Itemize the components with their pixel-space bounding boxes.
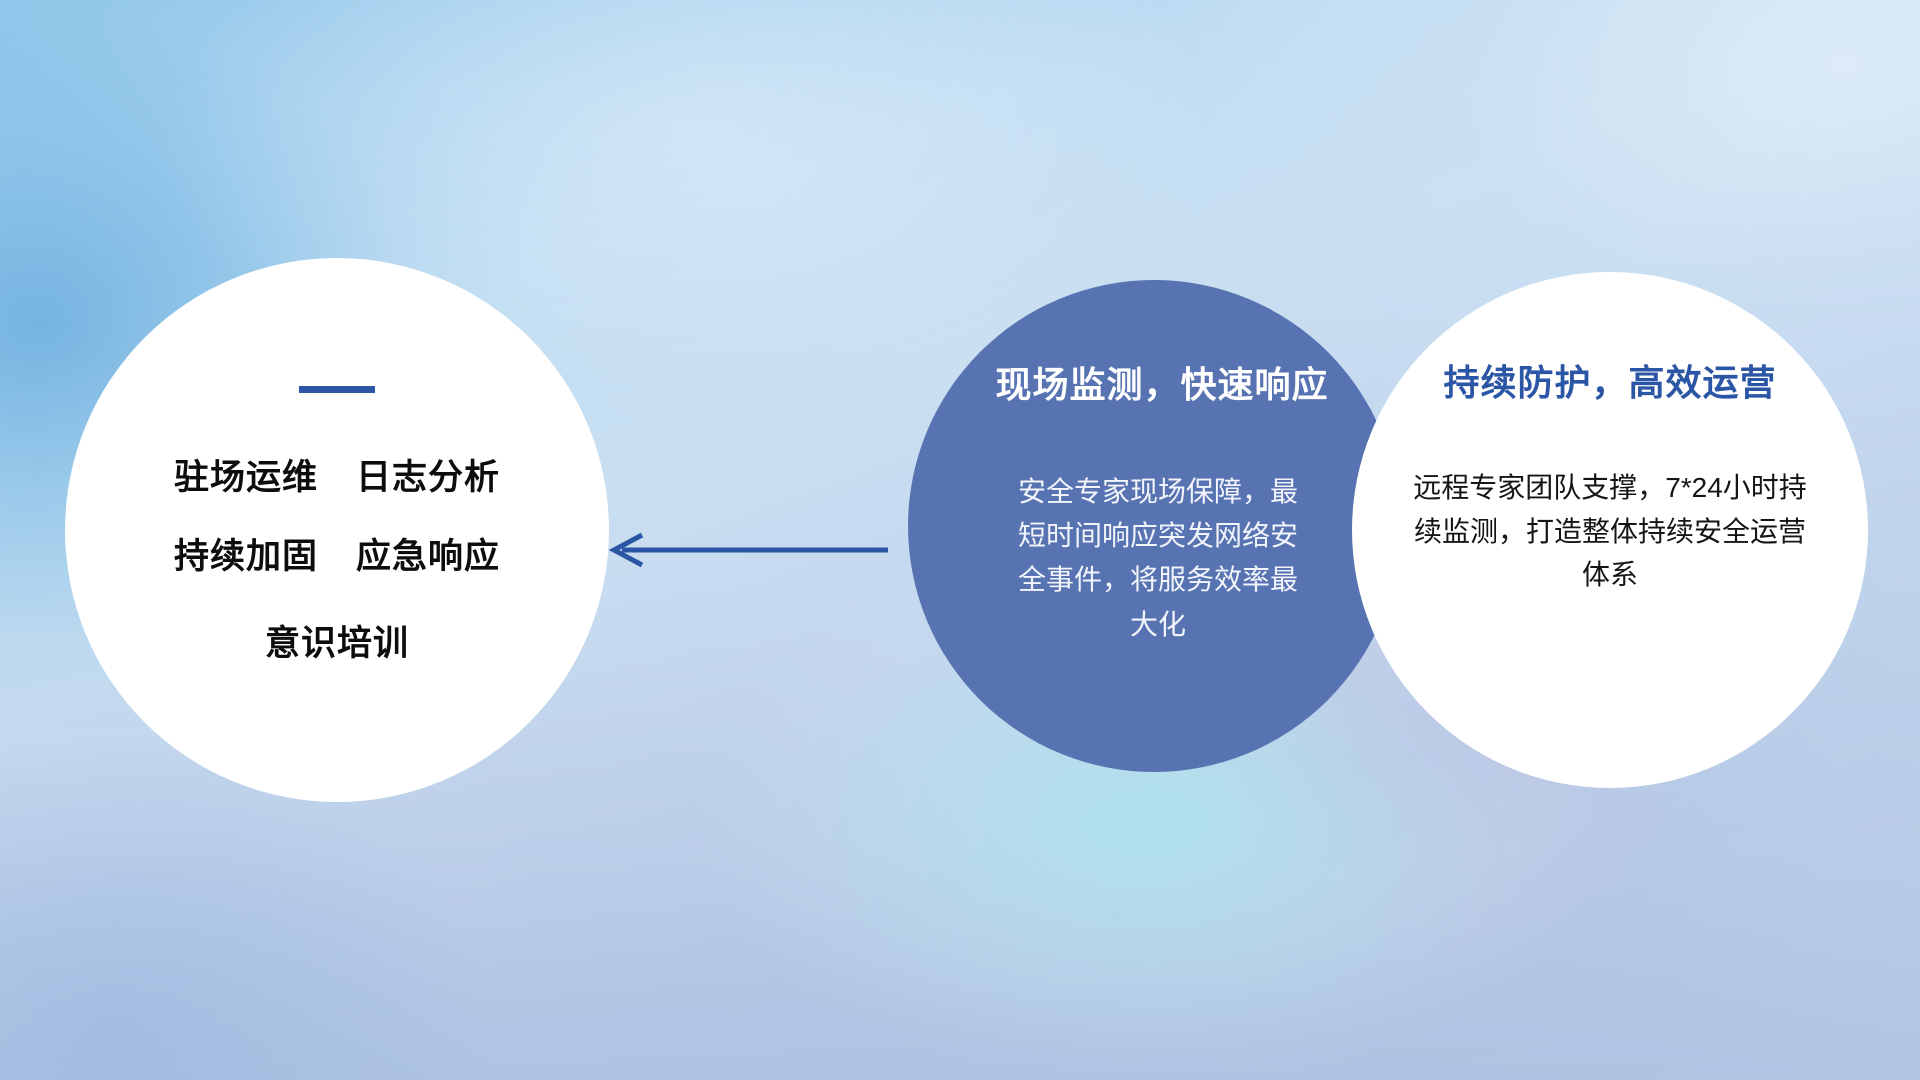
continuous-protection-content: 持续防护，高效运营 远程专家团队支撑，7*24小时持续监测，打造整体持续安全运营… <box>1352 272 1868 788</box>
accent-divider <box>299 386 375 393</box>
slide-canvas: 驻场运维 日志分析 持续加固 应急响应 意识培训 现场监测，快速响应 安全专家现… <box>0 0 1920 1080</box>
tag-row: 意识培训 <box>265 615 409 666</box>
tag-item[interactable]: 意识培训 <box>265 615 409 666</box>
tag-row: 持续加固 应急响应 <box>174 528 500 579</box>
circle-onsite-monitoring <box>908 280 1400 772</box>
arrow-left-icon <box>600 522 890 578</box>
tag-item[interactable]: 应急响应 <box>356 528 500 579</box>
tag-row: 驻场运维 日志分析 <box>174 449 500 500</box>
continuous-protection-title: 持续防护，高效运营 <box>1443 354 1776 406</box>
tag-item[interactable]: 驻场运维 <box>174 449 318 500</box>
tag-item[interactable]: 日志分析 <box>356 449 500 500</box>
service-capabilities-content: 驻场运维 日志分析 持续加固 应急响应 意识培训 <box>65 258 609 802</box>
continuous-protection-body: 远程专家团队支撑，7*24小时持续监测，打造整体持续安全运营体系 <box>1410 466 1810 597</box>
tag-item[interactable]: 持续加固 <box>174 528 318 579</box>
